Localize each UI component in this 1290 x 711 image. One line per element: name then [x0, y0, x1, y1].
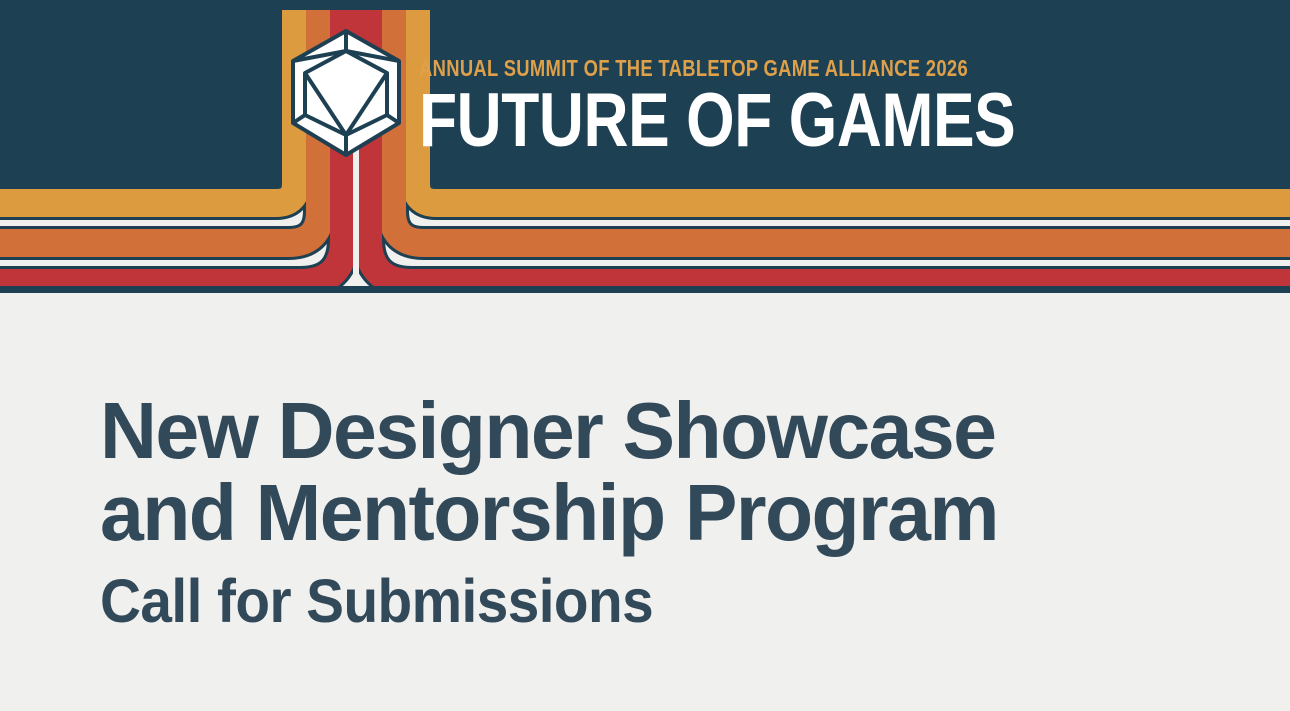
- event-wordmark: FUTURE OF GAMES: [419, 86, 1015, 156]
- event-logo-lockup: ANNUAL SUMMIT OF THE TABLETOP GAME ALLIA…: [287, 25, 987, 165]
- page-subtitle: Call for Submissions: [100, 553, 1170, 633]
- d20-icosahedron-icon: [287, 27, 405, 162]
- page-title-line-2: and Mentorship Program: [100, 472, 1233, 554]
- bottom-teal-rule: [0, 286, 1290, 293]
- poster-banner: ANNUAL SUMMIT OF THE TABLETOP GAME ALLIA…: [0, 0, 1290, 293]
- page-title-line-1: New Designer Showcase: [100, 390, 1233, 472]
- page-title: New Designer Showcase and Mentorship Pro…: [100, 293, 1233, 553]
- logo-text-block: ANNUAL SUMMIT OF THE TABLETOP GAME ALLIA…: [419, 25, 1146, 156]
- event-kicker: ANNUAL SUMMIT OF THE TABLETOP GAME ALLIA…: [419, 57, 1001, 80]
- poster-content: New Designer Showcase and Mentorship Pro…: [100, 293, 1250, 633]
